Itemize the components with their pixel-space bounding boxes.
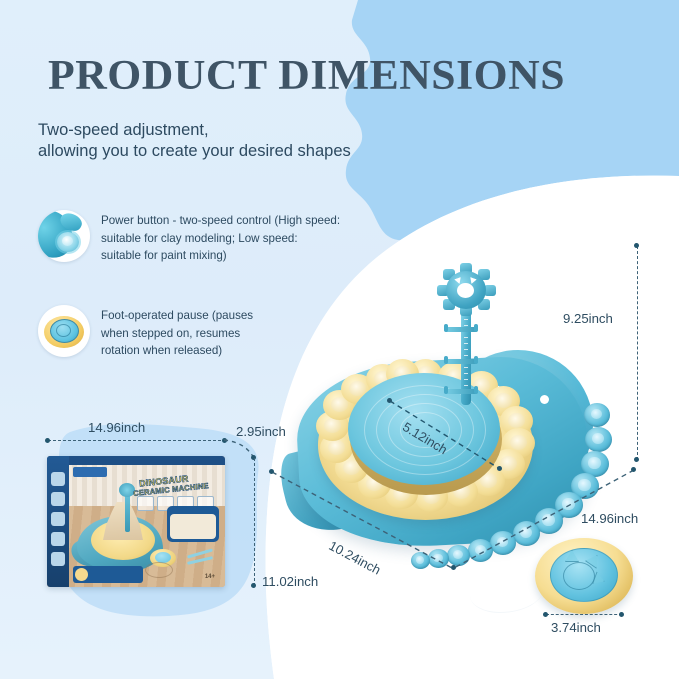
feature-0-line-1: Power button - two-speed control (High s… <box>101 214 340 227</box>
product-height-line <box>637 246 638 460</box>
subtitle-line-1: Two-speed adjustment, <box>38 121 209 139</box>
infographic-canvas: PRODUCT DIMENSIONS Two-speed adjustment,… <box>0 0 679 679</box>
package-width-label: 14.96inch <box>88 420 145 435</box>
tool-arm-upper <box>444 327 478 332</box>
feature-foot-pedal-text: Foot-operated pause (pauses when stepped… <box>101 305 253 360</box>
product-eye <box>540 395 549 404</box>
feature-1-line-2: when stepped on, resumes <box>101 327 240 340</box>
package-depth-line <box>222 436 262 462</box>
foot-pedal-icon <box>38 305 90 357</box>
power-button-icon <box>38 210 90 262</box>
feature-1-line-1: Foot-operated pause (pauses <box>101 309 253 322</box>
product-width-label: 14.96inch <box>581 511 638 526</box>
feature-foot-pedal: Foot-operated pause (pauses when stepped… <box>38 305 253 360</box>
page-title: PRODUCT DIMENSIONS <box>48 52 565 100</box>
package-height-line <box>254 458 255 586</box>
pedal-width-line <box>546 614 622 615</box>
feature-1-line-3: rotation when released) <box>101 344 222 357</box>
feature-0-line-3: suitable for paint mixing) <box>101 249 227 262</box>
pedal-width-label: 3.74inch <box>551 620 601 635</box>
page-subtitle: Two-speed adjustment, allowing you to cr… <box>38 120 351 162</box>
tool-arm-mid <box>444 359 478 364</box>
product-height-label: 9.25inch <box>563 311 613 326</box>
package-box-image: DINOSAUR CERAMIC MACHINE 14+ <box>47 456 225 587</box>
package-width-line <box>48 440 226 441</box>
subtitle-line-2: allowing you to create your desired shap… <box>38 142 351 160</box>
package-age-label: 14+ <box>205 574 215 580</box>
turntable-diameter-line <box>386 397 508 477</box>
feature-0-line-2: suitable for clay modeling; Low speed: <box>101 232 298 245</box>
tool-measurement-ticks <box>464 313 468 395</box>
tool-arm-lower <box>444 389 478 394</box>
gear-icon[interactable] <box>438 265 494 315</box>
